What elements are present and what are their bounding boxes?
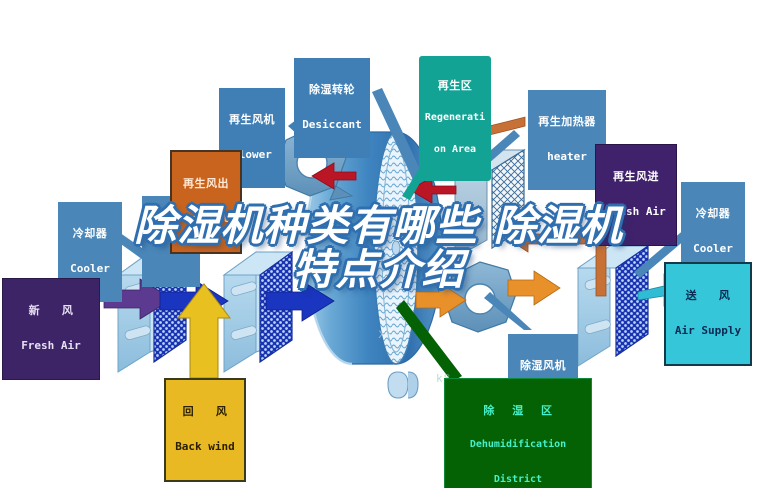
label-desiccant[interactable]: 除湿转轮 Desiccant [294,58,370,158]
label-cooler-left-1-cn: 冷却器 [63,228,117,240]
label-back-wind-cn: 回 风 [171,406,239,418]
label-regen-heater-en: heater [533,151,601,163]
label-cooler-right-en: Cooler [686,243,740,255]
cooler-unit-left-2 [224,252,292,372]
label-regen-fresh-air-en: Fresh Air [601,206,671,218]
cooler-unit-right [578,246,648,366]
label-air-supply-cn: 送 风 [671,290,745,302]
label-back-wind[interactable]: 回 风 Back wind [164,378,246,482]
label-fresh-air-en: Fresh Air [8,340,94,352]
label-cooler-right-cn: 冷却器 [686,208,740,220]
label-fresh-air-cn: 新 风 [8,305,94,317]
label-regeneration-area[interactable]: 再生区 Regenerati on Area [419,56,491,181]
label-dehumidification-district[interactable]: 除 湿 区 Dehumidification District [444,378,592,488]
label-exhaust-en: Exhaust [177,213,235,225]
label-regen-heater-cn: 再生加热器 [533,116,601,128]
label-desiccant-en: Desiccant [299,119,365,131]
label-dehumid-blower-cn: 除湿风机 [513,360,573,372]
label-air-supply-en: Air Supply [671,325,745,337]
label-regen-fresh-air-cn: 再生风进 [601,171,671,183]
label-air-supply[interactable]: 送 风 Air Supply [664,262,752,366]
label-cooler-left-1-en: Cooler [63,263,117,275]
label-back-wind-en: Back wind [171,441,239,453]
label-regen-blower-cn: 再生风机 [224,114,280,126]
label-regeneration-area-en2: on Area [424,145,486,156]
diagram-canvas: xt 除湿转轮 Desiccant 再生风机 Blower 再生区 Regene… [0,0,757,488]
label-exhaust[interactable]: 再生风出 Exhaust [170,150,242,254]
label-regeneration-area-en1: Regenerati [424,113,486,124]
rotor-watermark: xt [378,327,394,342]
label-regen-fresh-air[interactable]: 再生风进 Fresh Air [595,144,677,246]
label-dehumidification-district-cn: 除 湿 区 [450,405,586,417]
label-dehumidification-district-en2: District [450,475,586,486]
label-dehumidification-district-en1: Dehumidification [450,440,586,451]
label-regeneration-area-cn: 再生区 [424,80,486,92]
label-fresh-air[interactable]: 新 风 Fresh Air [2,278,100,380]
label-desiccant-cn: 除湿转轮 [299,84,365,96]
label-exhaust-cn: 再生风出 [177,178,235,190]
